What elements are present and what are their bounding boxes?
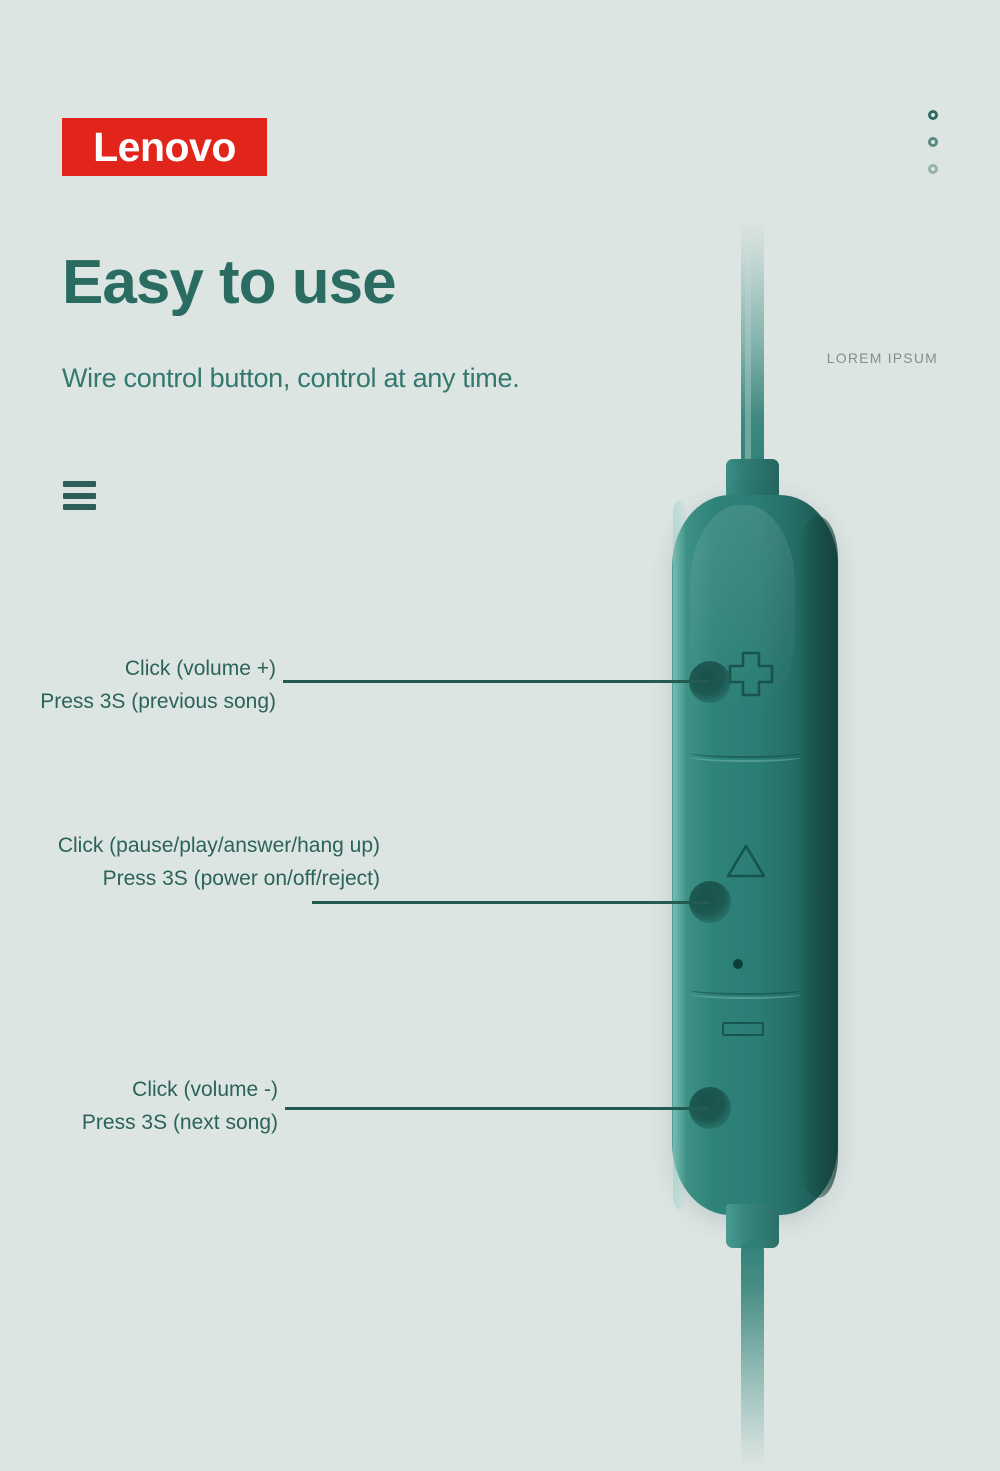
volume-down-minus-icon bbox=[722, 1022, 764, 1036]
cable-upper bbox=[741, 220, 764, 475]
cable-lower bbox=[741, 1240, 764, 1471]
lorem-line-2: IPSUM bbox=[888, 350, 938, 366]
hamburger-bar bbox=[63, 493, 96, 499]
callout-volume-down: Click (volume -) Press 3S (next song) bbox=[0, 1074, 278, 1139]
module-groove-upper bbox=[690, 748, 802, 758]
callout-line-2: Press 3S (power on/off/reject) bbox=[0, 863, 380, 896]
leader-line-volume-up bbox=[283, 680, 710, 683]
module-right-shadow bbox=[798, 516, 838, 1198]
leader-line-volume-down bbox=[285, 1107, 710, 1110]
module-left-highlight bbox=[673, 500, 687, 1210]
circle-ring-icon bbox=[928, 110, 938, 120]
module-groove-upper-highlight bbox=[690, 752, 802, 762]
page-subtitle: Wire control button, control at any time… bbox=[62, 363, 519, 394]
strain-relief-lower bbox=[726, 1204, 779, 1248]
plus-glyph bbox=[728, 651, 774, 697]
triangle-glyph bbox=[725, 843, 767, 879]
leader-line-play-pause bbox=[312, 901, 710, 904]
callout-play-pause: Click (pause/play/answer/hang up) Press … bbox=[0, 830, 380, 895]
lenovo-logo: Lenovo bbox=[62, 118, 267, 176]
hamburger-bar bbox=[63, 504, 96, 510]
module-groove-lower-highlight bbox=[690, 989, 802, 999]
callout-line-2: Press 3S (next song) bbox=[0, 1107, 278, 1140]
lenovo-logo-text: Lenovo bbox=[93, 127, 236, 168]
lorem-ipsum-label: LOREM IPSUM bbox=[827, 348, 938, 370]
volume-up-plus-icon bbox=[728, 651, 774, 697]
decorative-dots bbox=[928, 110, 938, 174]
play-triangle-icon bbox=[725, 843, 767, 879]
lorem-line-1: LOREM bbox=[827, 350, 883, 366]
earphone-control-illustration bbox=[0, 0, 1000, 1471]
callout-line-1: Click (volume +) bbox=[0, 653, 276, 686]
callout-volume-up: Click (volume +) Press 3S (previous song… bbox=[0, 653, 276, 718]
hamburger-bar bbox=[63, 481, 96, 487]
circle-ring-icon bbox=[928, 137, 938, 147]
callout-line-1: Click (pause/play/answer/hang up) bbox=[0, 830, 380, 863]
hamburger-icon bbox=[63, 481, 96, 510]
module-groove-lower bbox=[690, 985, 802, 995]
callout-line-1: Click (volume -) bbox=[0, 1074, 278, 1107]
strain-relief-upper bbox=[726, 459, 779, 503]
callout-line-2: Press 3S (previous song) bbox=[0, 686, 276, 719]
circle-ring-icon bbox=[928, 164, 938, 174]
module-top-sheen bbox=[690, 505, 795, 715]
page-title: Easy to use bbox=[62, 249, 396, 317]
product-infographic: Lenovo LOREM IPSUM Easy to use Wire cont… bbox=[0, 0, 1000, 1471]
cable-upper-highlight bbox=[745, 228, 751, 468]
microphone-hole-icon bbox=[733, 959, 743, 969]
